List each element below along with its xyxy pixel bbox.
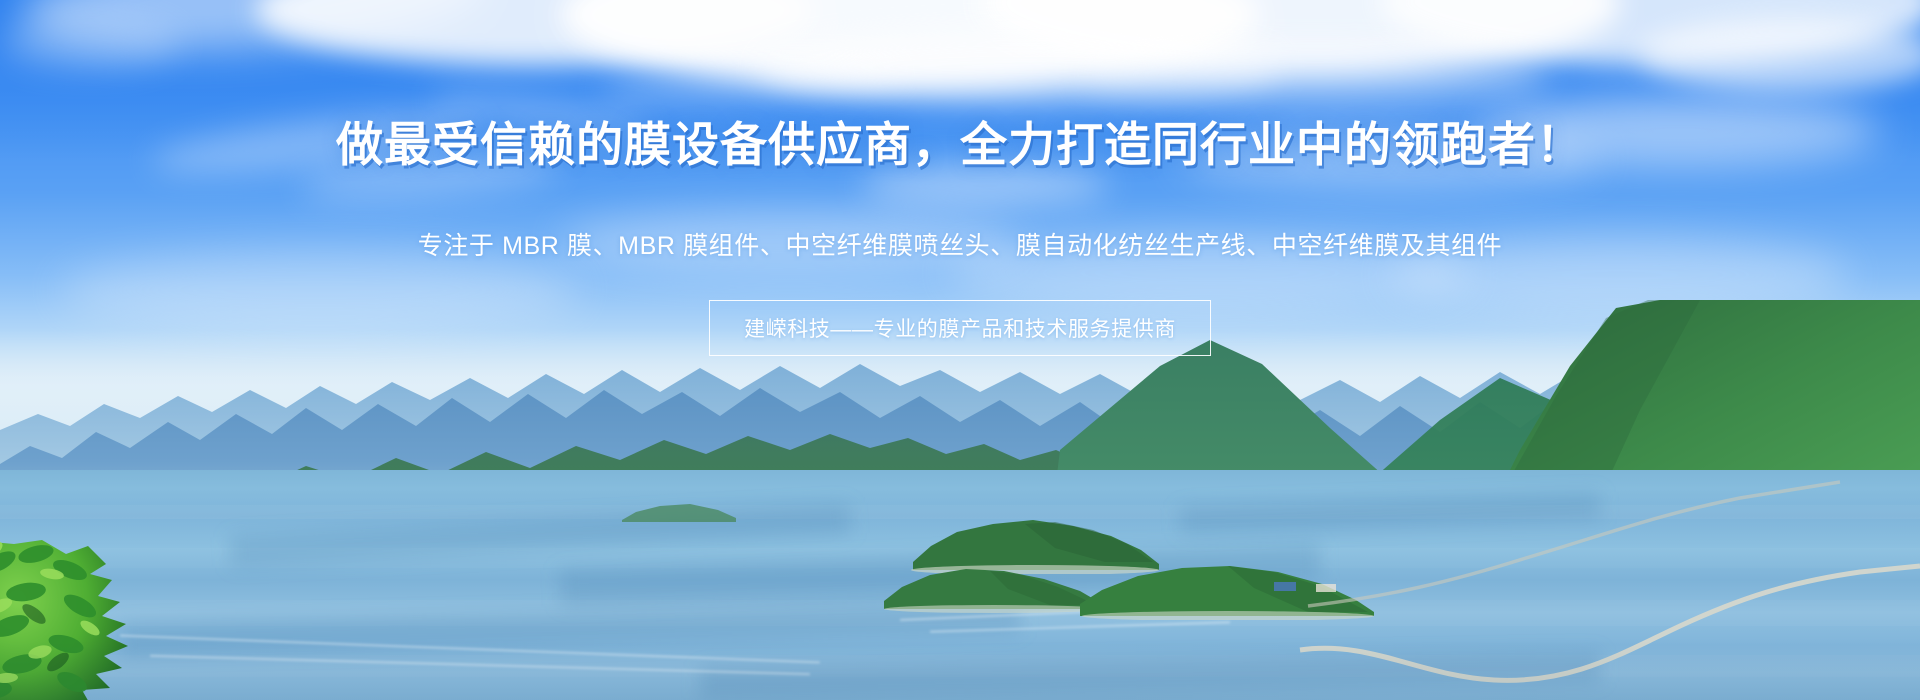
lake-island-left [880,565,1110,613]
banner-tagline-box[interactable]: 建嵘科技——专业的膜产品和技术服务提供商 [709,300,1211,356]
lake-island-distant [620,500,740,526]
sky-top-tint [0,0,1920,160]
winding-mountain-road [1280,440,1920,700]
foreground-foliage [0,540,270,700]
hero-banner: 做最受信赖的膜设备供应商，全力打造同行业中的领跑者！ 专注于 MBR 膜、MBR… [0,0,1920,700]
